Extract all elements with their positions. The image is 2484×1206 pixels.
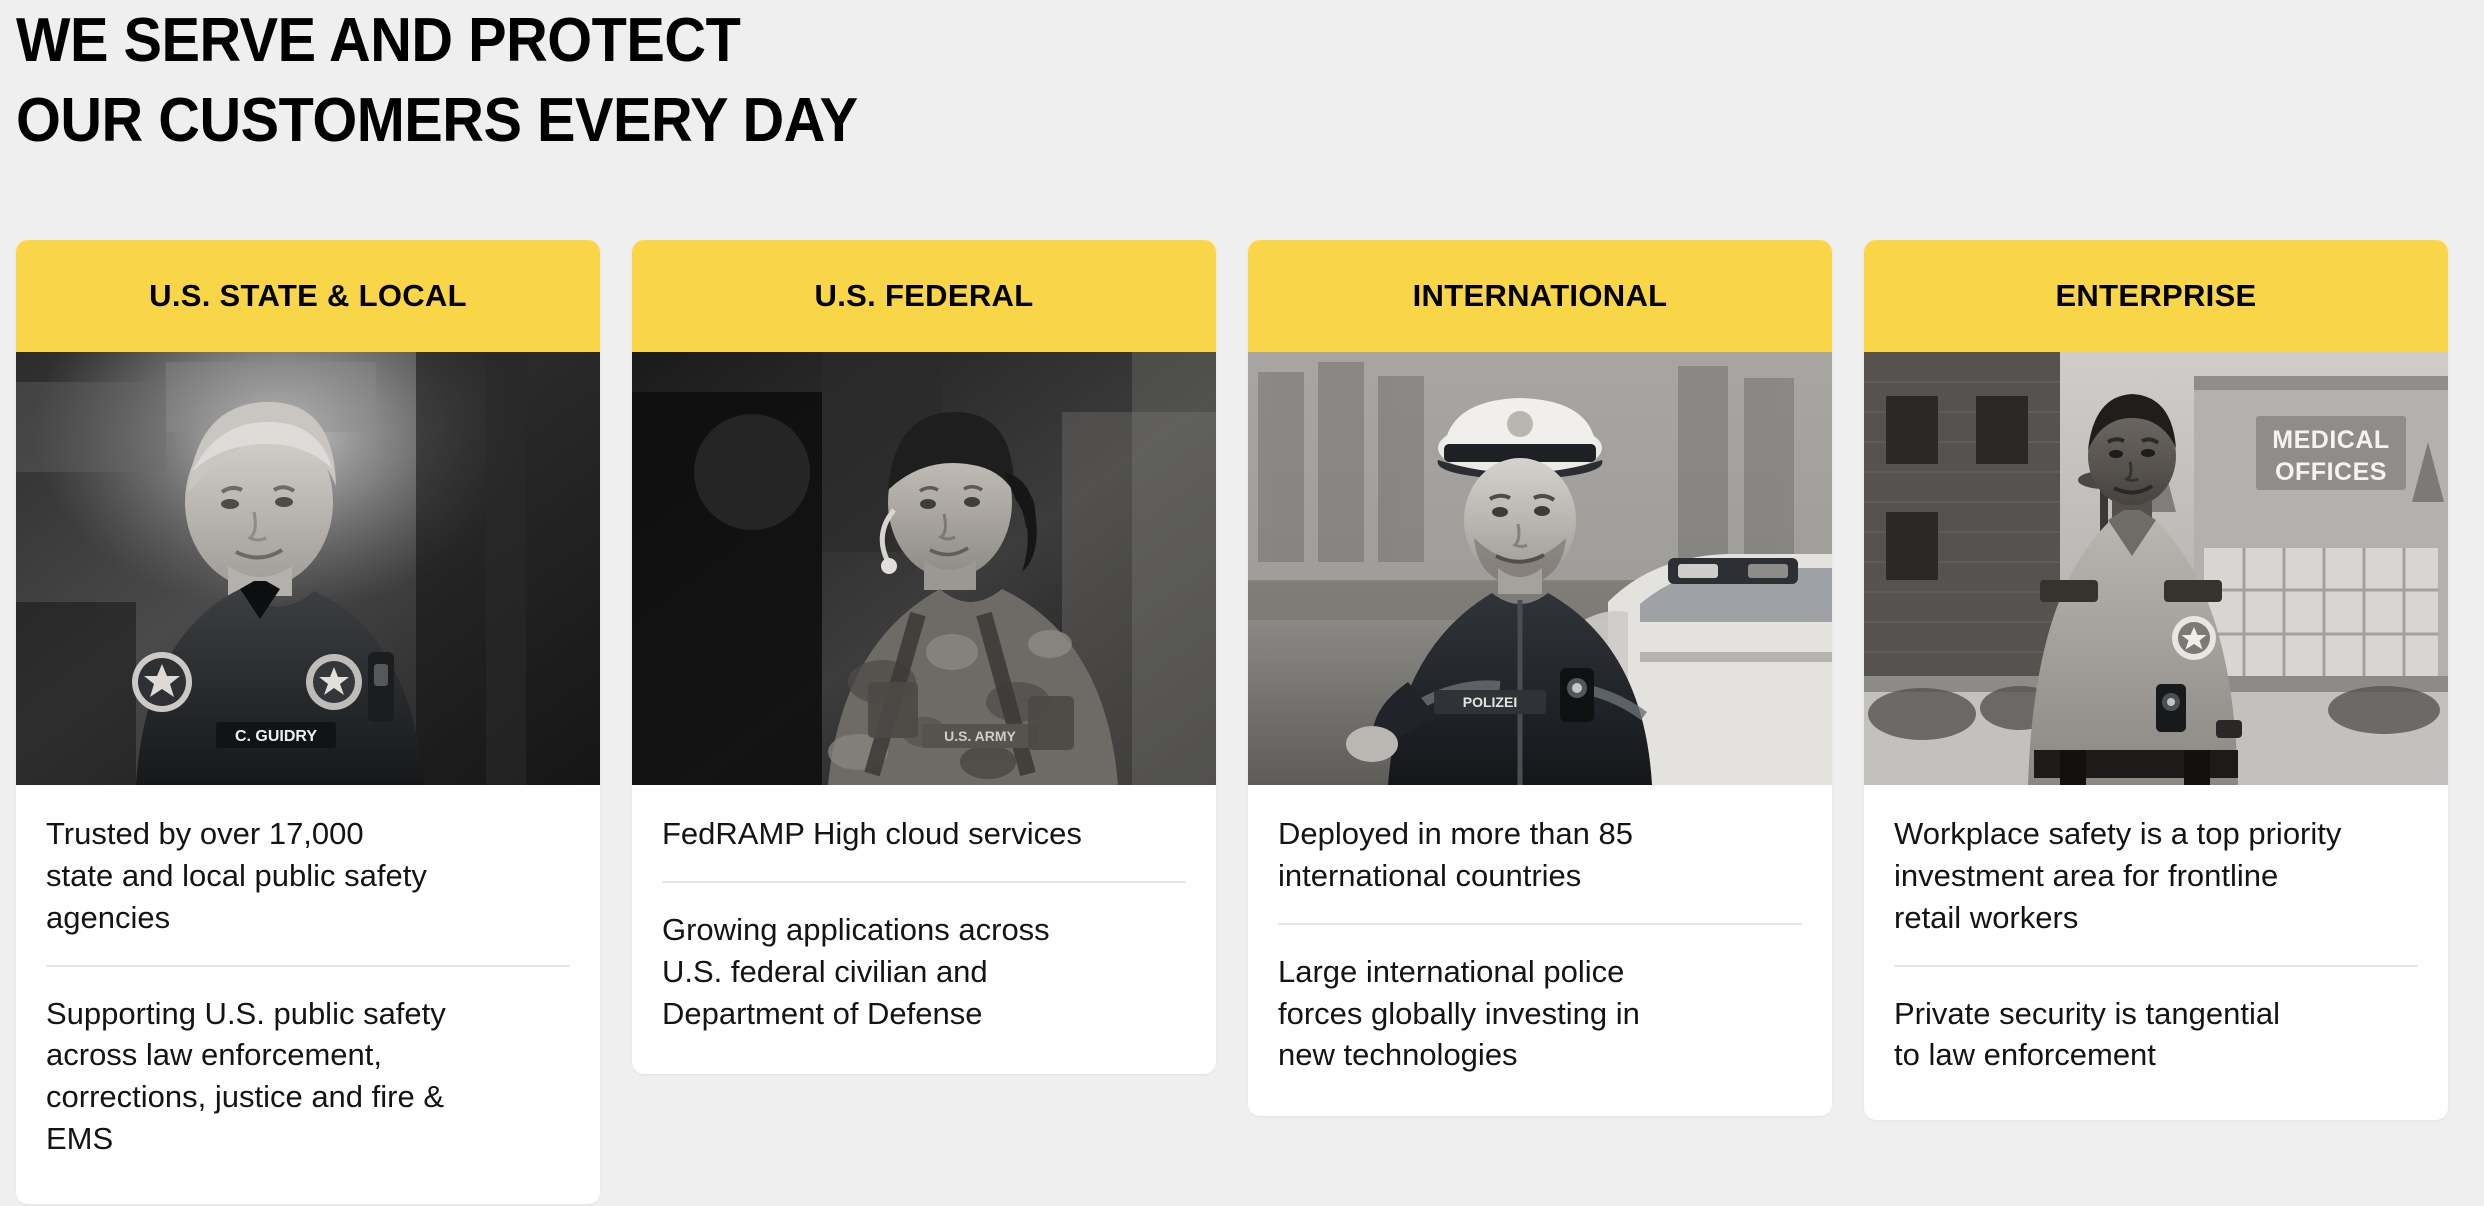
photo-patch-text: POLIZEI	[1463, 694, 1517, 710]
page-title: WE SERVE AND PROTECT OUR CUSTOMERS EVERY…	[16, 2, 2155, 152]
card-body-international: Deployed in more than 85 international c…	[1248, 785, 1832, 1116]
card-header-international: INTERNATIONAL	[1248, 240, 1832, 352]
card-photo-state-local: C. GUIDRY	[16, 352, 600, 785]
photo-nametag-text: U.S. ARMY	[944, 728, 1016, 744]
card-fact: Trusted by over 17,000 state and local p…	[46, 813, 570, 939]
fact-divider	[662, 881, 1186, 883]
card-photo-international: POLIZEI	[1248, 352, 1832, 785]
card-photo-federal: U.S. ARMY	[632, 352, 1216, 785]
page-title-line-1: WE SERVE AND PROTECT	[16, 2, 2155, 72]
segment-card-state-local[interactable]: U.S. STATE & LOCAL	[16, 240, 600, 1204]
card-header-label: ENTERPRISE	[2055, 278, 2256, 314]
card-fact: Deployed in more than 85 international c…	[1278, 813, 1802, 897]
fact-divider	[46, 965, 570, 967]
card-fact: Supporting U.S. public safety across law…	[46, 993, 570, 1160]
card-photo-enterprise: MEDICAL OFFICES	[1864, 352, 2448, 785]
card-fact: Private security is tangential to law en…	[1894, 993, 2418, 1077]
card-header-state-local: U.S. STATE & LOCAL	[16, 240, 600, 352]
photo-nametag-text: C. GUIDRY	[235, 728, 317, 745]
page-title-line-2: OUR CUSTOMERS EVERY DAY	[16, 72, 2155, 152]
segment-card-enterprise[interactable]: ENTERPRISE	[1864, 240, 2448, 1120]
card-body-federal: FedRAMP High cloud services Growing appl…	[632, 785, 1216, 1074]
segment-card-federal[interactable]: U.S. FEDERAL	[632, 240, 1216, 1074]
photo-sign-line-1: MEDICAL	[2272, 426, 2389, 454]
card-fact: Large international police forces global…	[1278, 951, 1802, 1077]
card-header-label: INTERNATIONAL	[1413, 278, 1668, 314]
card-fact: FedRAMP High cloud services	[662, 813, 1186, 855]
photo-sign-line-2: OFFICES	[2275, 458, 2387, 486]
card-header-enterprise: ENTERPRISE	[1864, 240, 2448, 352]
card-fact: Workplace safety is a top priority inves…	[1894, 813, 2418, 939]
card-body-state-local: Trusted by over 17,000 state and local p…	[16, 785, 600, 1204]
card-header-label: U.S. STATE & LOCAL	[149, 278, 467, 314]
segment-card-international[interactable]: INTERNATIONAL	[1248, 240, 1832, 1116]
segment-card-grid: U.S. STATE & LOCAL	[16, 240, 2470, 1204]
card-fact: Growing applications across U.S. federal…	[662, 909, 1186, 1035]
card-header-label: U.S. FEDERAL	[815, 278, 1034, 314]
slide-root: WE SERVE AND PROTECT OUR CUSTOMERS EVERY…	[0, 0, 2484, 1206]
card-body-enterprise: Workplace safety is a top priority inves…	[1864, 785, 2448, 1120]
fact-divider	[1278, 923, 1802, 925]
card-header-federal: U.S. FEDERAL	[632, 240, 1216, 352]
fact-divider	[1894, 965, 2418, 967]
